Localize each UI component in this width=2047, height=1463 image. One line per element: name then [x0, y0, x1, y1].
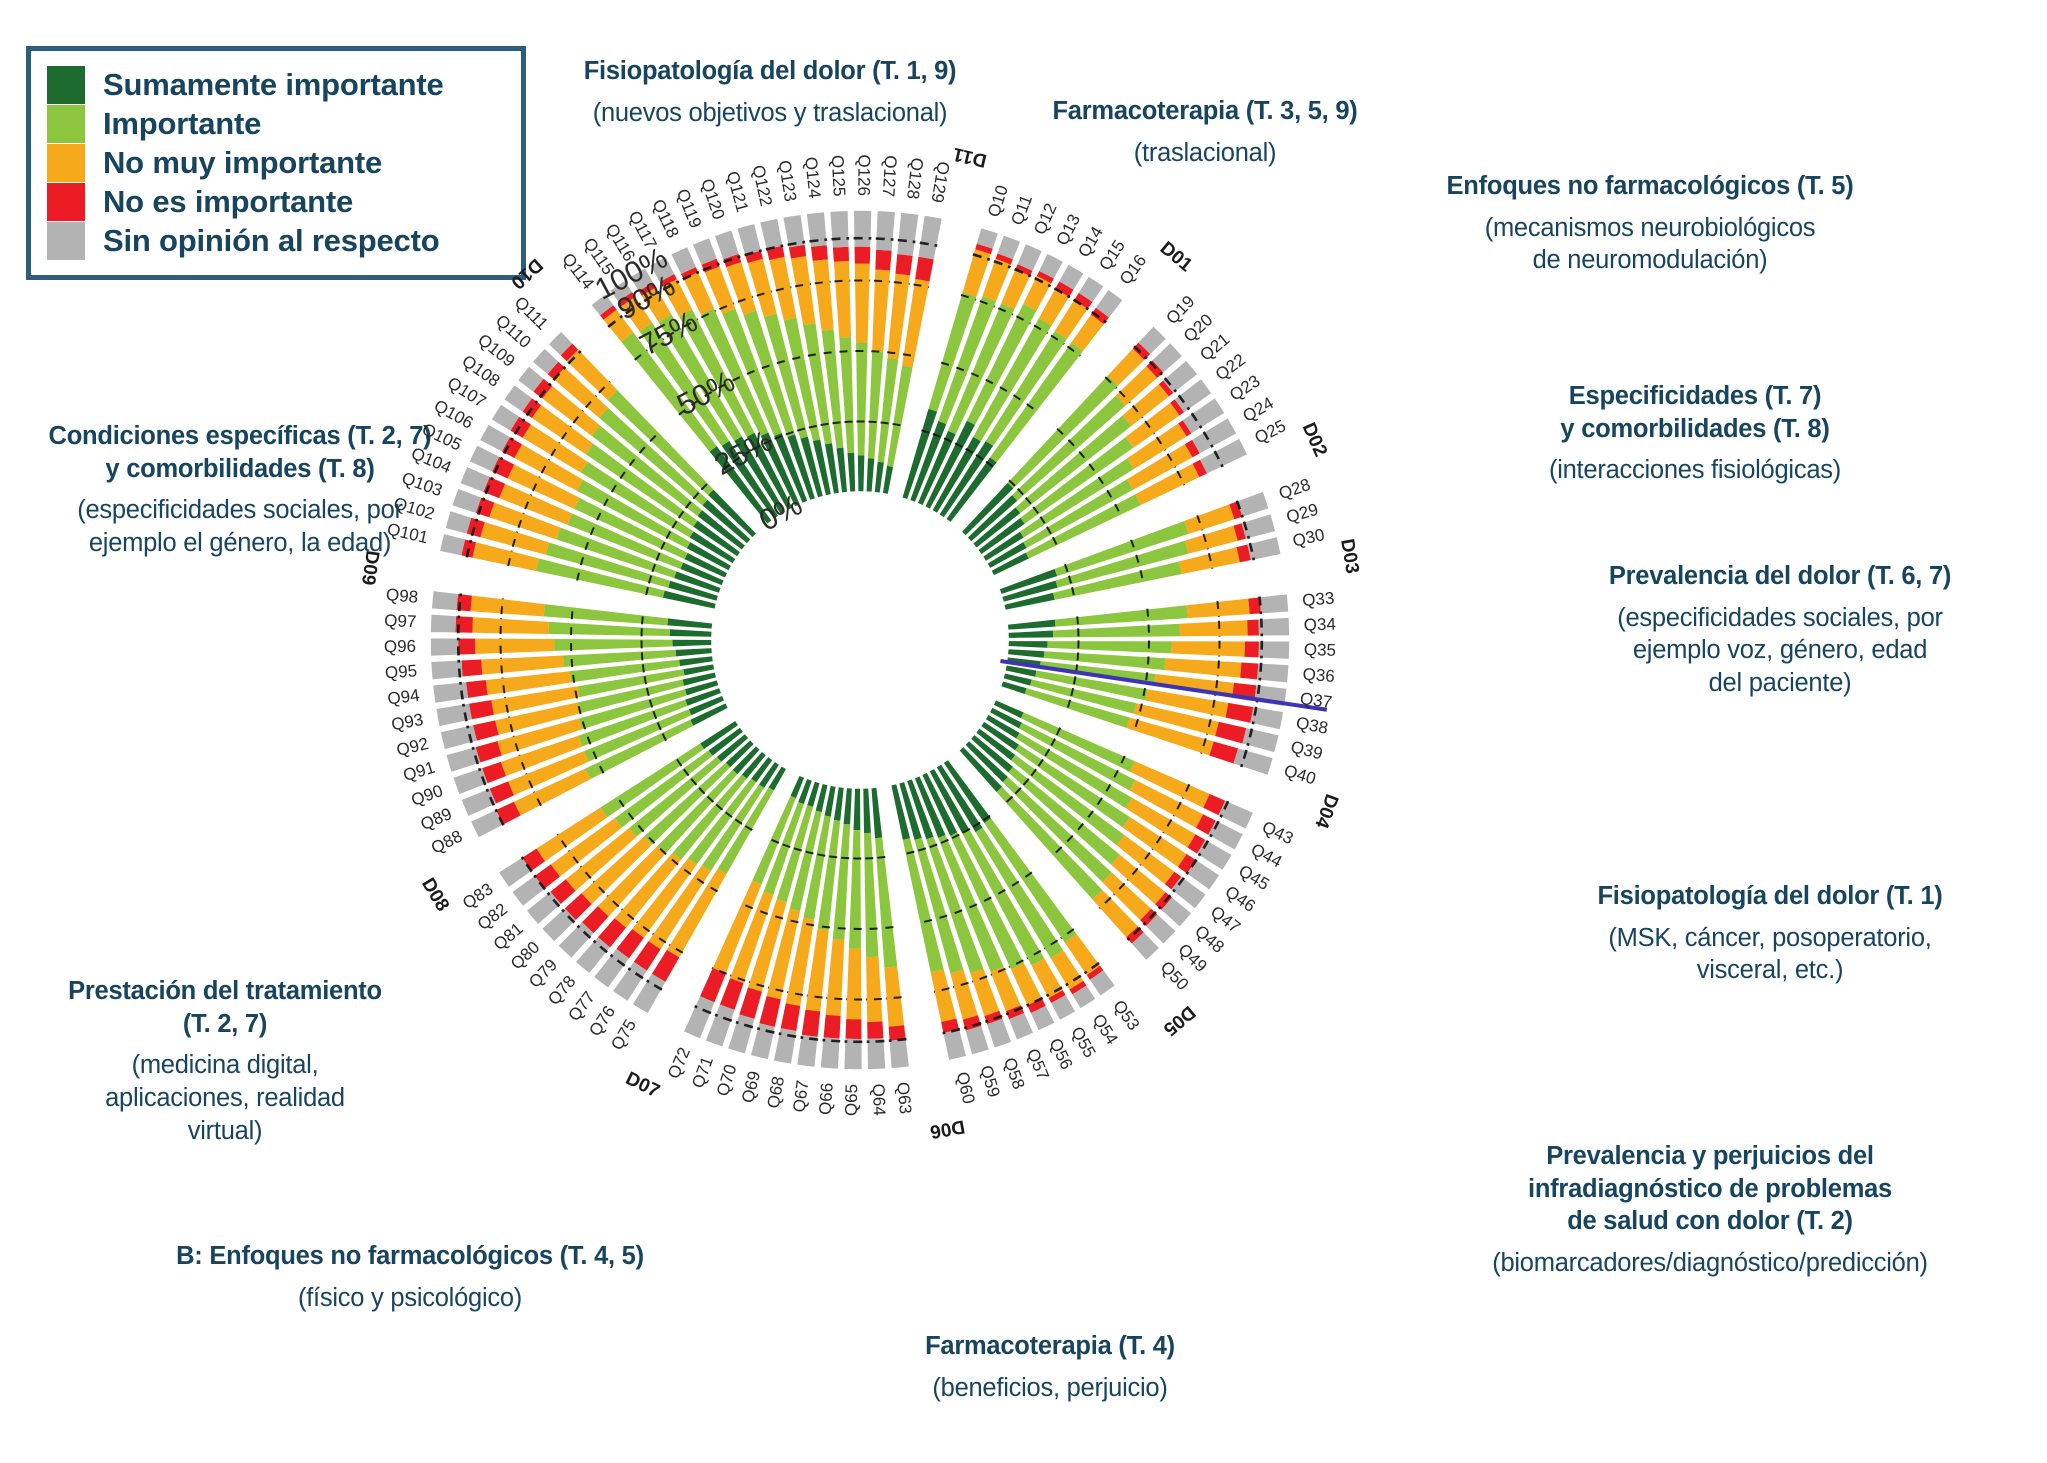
legend-swatch-no-muy-importante: [47, 144, 85, 182]
annotation-subtitle: (MSK, cáncer, posoperatorio, visceral, e…: [1540, 922, 2000, 987]
question-label-Q123: Q123: [775, 159, 800, 203]
bars-group: [430, 210, 1290, 1070]
question-label-Q72: Q72: [664, 1044, 694, 1081]
bar-segment-Q96-3: [458, 638, 475, 656]
annotation-subtitle: (especificidades sociales, por ejemplo v…: [1540, 602, 2020, 700]
domain-label-D02: D02: [1298, 420, 1331, 460]
question-label-Q63: Q63: [893, 1081, 915, 1115]
bar-segment-Q95-3: [462, 659, 483, 678]
domain-label-D06: D06: [928, 1115, 966, 1142]
legend-item: Sumamente importante: [47, 66, 503, 104]
question-label-Q122: Q122: [748, 163, 775, 208]
question-label-Q68: Q68: [764, 1075, 788, 1110]
question-label-Q101: Q101: [385, 519, 430, 547]
legend-swatch-no-es-importante: [47, 183, 85, 221]
bar-segment-Q125-3: [832, 247, 850, 262]
bar-segment-Q34-4: [1258, 617, 1290, 636]
annotation-subtitle: (biomarcadores/diagnóstico/predicción): [1400, 1247, 2020, 1280]
question-label-Q128: Q128: [903, 157, 927, 201]
bar-segment-Q64-4: [867, 1038, 886, 1070]
question-label-Q40: Q40: [1282, 761, 1318, 789]
bar-segment-Q126-3: [854, 247, 871, 264]
question-label-Q95: Q95: [384, 661, 417, 682]
legend-label: Sumamente importante: [103, 69, 444, 102]
question-label-Q94: Q94: [386, 686, 420, 709]
question-label-Q71: Q71: [688, 1054, 717, 1091]
question-label-Q64: Q64: [869, 1083, 889, 1116]
annotation-subtitle: (beneficios, perjuicio): [850, 1372, 1250, 1405]
question-label-Q67: Q67: [789, 1079, 812, 1113]
annotation-title: Prevalencia del dolor (T. 6, 7): [1540, 560, 2020, 593]
bar-segment-Q65-3: [845, 1019, 863, 1039]
question-label-Q97: Q97: [384, 611, 417, 631]
gridline-90-Q95: [459, 660, 460, 678]
question-label-Q70: Q70: [713, 1062, 740, 1098]
question-label-Q59: Q59: [976, 1063, 1003, 1099]
domain-label-D01: D01: [1156, 238, 1197, 277]
domain-label-D11: D11: [951, 143, 989, 171]
legend-label: No es importante: [103, 186, 353, 219]
question-label-Q90: Q90: [409, 781, 446, 810]
annotation-title: Fisiopatología del dolor (T. 1): [1540, 880, 2000, 913]
question-label-Q38: Q38: [1294, 713, 1329, 738]
domain-label-D08: D08: [417, 874, 453, 915]
bar-segment-Q64-3: [866, 1021, 884, 1039]
question-label-Q124: Q124: [801, 156, 824, 199]
chart-svg: Q10Q11Q12Q13Q14Q15Q16Q19Q20Q21Q22Q23Q24Q…: [330, 110, 1390, 1370]
question-label-Q125: Q125: [828, 154, 849, 196]
question-label-Q88: Q88: [428, 827, 465, 858]
question-label-Q96: Q96: [384, 637, 416, 657]
annotation-title: Especificidades (T. 7) y comorbilidades …: [1480, 380, 1910, 445]
annotation-prevalencia-dolor-6-7: Prevalencia del dolor (T. 6, 7) (especif…: [1540, 560, 2020, 700]
annotation-title: Enfoques no farmacológicos (T. 5): [1390, 170, 1910, 203]
annotation-subtitle: (mecanismos neurobiológicos de neuromodu…: [1390, 212, 1910, 277]
question-label-Q28: Q28: [1276, 475, 1313, 503]
bar-segment-Q35-4: [1259, 641, 1290, 660]
bar-segment-Q36-3: [1240, 662, 1258, 680]
question-label-Q29: Q29: [1284, 500, 1320, 527]
question-label-Q65: Q65: [842, 1084, 862, 1116]
question-label-Q34: Q34: [1303, 615, 1336, 635]
gridline-90-Q34: [1261, 619, 1262, 637]
question-label-Q30: Q30: [1291, 525, 1327, 551]
question-label-Q36: Q36: [1302, 665, 1336, 686]
bar-segment-Q34-3: [1247, 619, 1259, 637]
question-label-Q92: Q92: [395, 734, 431, 760]
question-label-Q58: Q58: [1000, 1055, 1029, 1092]
gridline-90-Q64: [867, 1041, 885, 1042]
question-label-Q60: Q60: [953, 1070, 979, 1106]
question-label-Q98: Q98: [385, 585, 419, 607]
gridline-90-Q97: [458, 616, 459, 634]
bar-segment-Q97-4: [430, 614, 456, 633]
question-label-Q102: Q102: [392, 494, 437, 524]
domain-label-D03: D03: [1336, 537, 1363, 575]
bar-segment-Q66-3: [823, 1015, 842, 1039]
question-label-Q126: Q126: [854, 154, 873, 196]
question-label-Q127: Q127: [879, 155, 901, 198]
domain-label-D07: D07: [622, 1068, 663, 1102]
bar-segment-Q124-3: [810, 245, 829, 261]
bar-segment-Q96-4: [430, 638, 458, 657]
question-label-Q11: Q11: [1007, 192, 1036, 228]
question-label-Q57: Q57: [1023, 1046, 1053, 1083]
domain-label-D10: D10: [507, 254, 547, 293]
legend-swatch-sin-opinion: [47, 222, 85, 260]
gridline-90-Q125: [831, 238, 849, 239]
annotation-enfoques-no-farmacologicos-5: Enfoques no farmacológicos (T. 5) (mecan…: [1390, 170, 1910, 277]
bar-segment-Q35-3: [1244, 641, 1259, 659]
legend-swatch-sumamente-importante: [47, 66, 85, 104]
domain-label-D05: D05: [1159, 1001, 1200, 1040]
annotation-fisiopatologia-1: Fisiopatología del dolor (T. 1) (MSK, cá…: [1540, 880, 2000, 987]
bar-segment-Q127-3: [875, 250, 893, 271]
question-label-Q66: Q66: [816, 1082, 837, 1115]
annotation-title: Fisiopatología del dolor (T. 1, 9): [540, 55, 1000, 88]
legend-swatch-importante: [47, 105, 85, 143]
question-label-Q35: Q35: [1304, 640, 1337, 660]
question-label-Q37: Q37: [1299, 689, 1333, 712]
question-label-Q69: Q69: [738, 1069, 764, 1105]
question-label-Q129: Q129: [927, 160, 953, 204]
question-label-Q91: Q91: [401, 758, 437, 785]
question-label-Q10: Q10: [984, 183, 1012, 219]
question-label-Q39: Q39: [1289, 737, 1325, 763]
annotation-subtitle: (interacciones fisiológicas): [1480, 454, 1910, 487]
question-label-Q121: Q121: [723, 169, 752, 214]
question-label-Q33: Q33: [1301, 588, 1335, 610]
legend-label: Importante: [103, 108, 261, 141]
question-label-Q93: Q93: [390, 710, 425, 734]
radial-stacked-bar-chart: Q10Q11Q12Q13Q14Q15Q16Q19Q20Q21Q22Q23Q24Q…: [330, 110, 1390, 1370]
domain-label-D09: D09: [357, 549, 383, 587]
annotation-especificidades-7-comorbilidades-8: Especificidades (T. 7) y comorbilidades …: [1480, 380, 1910, 487]
domain-label-D04: D04: [1310, 791, 1342, 831]
annotation-prevalencia-infradiagnostico-2: Prevalencia y perjuicios del infradiagnó…: [1400, 1140, 2020, 1280]
bar-segment-Q65-4: [844, 1039, 863, 1070]
annotation-title: Prevalencia y perjuicios del infradiagnó…: [1400, 1140, 2020, 1238]
bar-segment-Q126-4: [853, 210, 872, 247]
